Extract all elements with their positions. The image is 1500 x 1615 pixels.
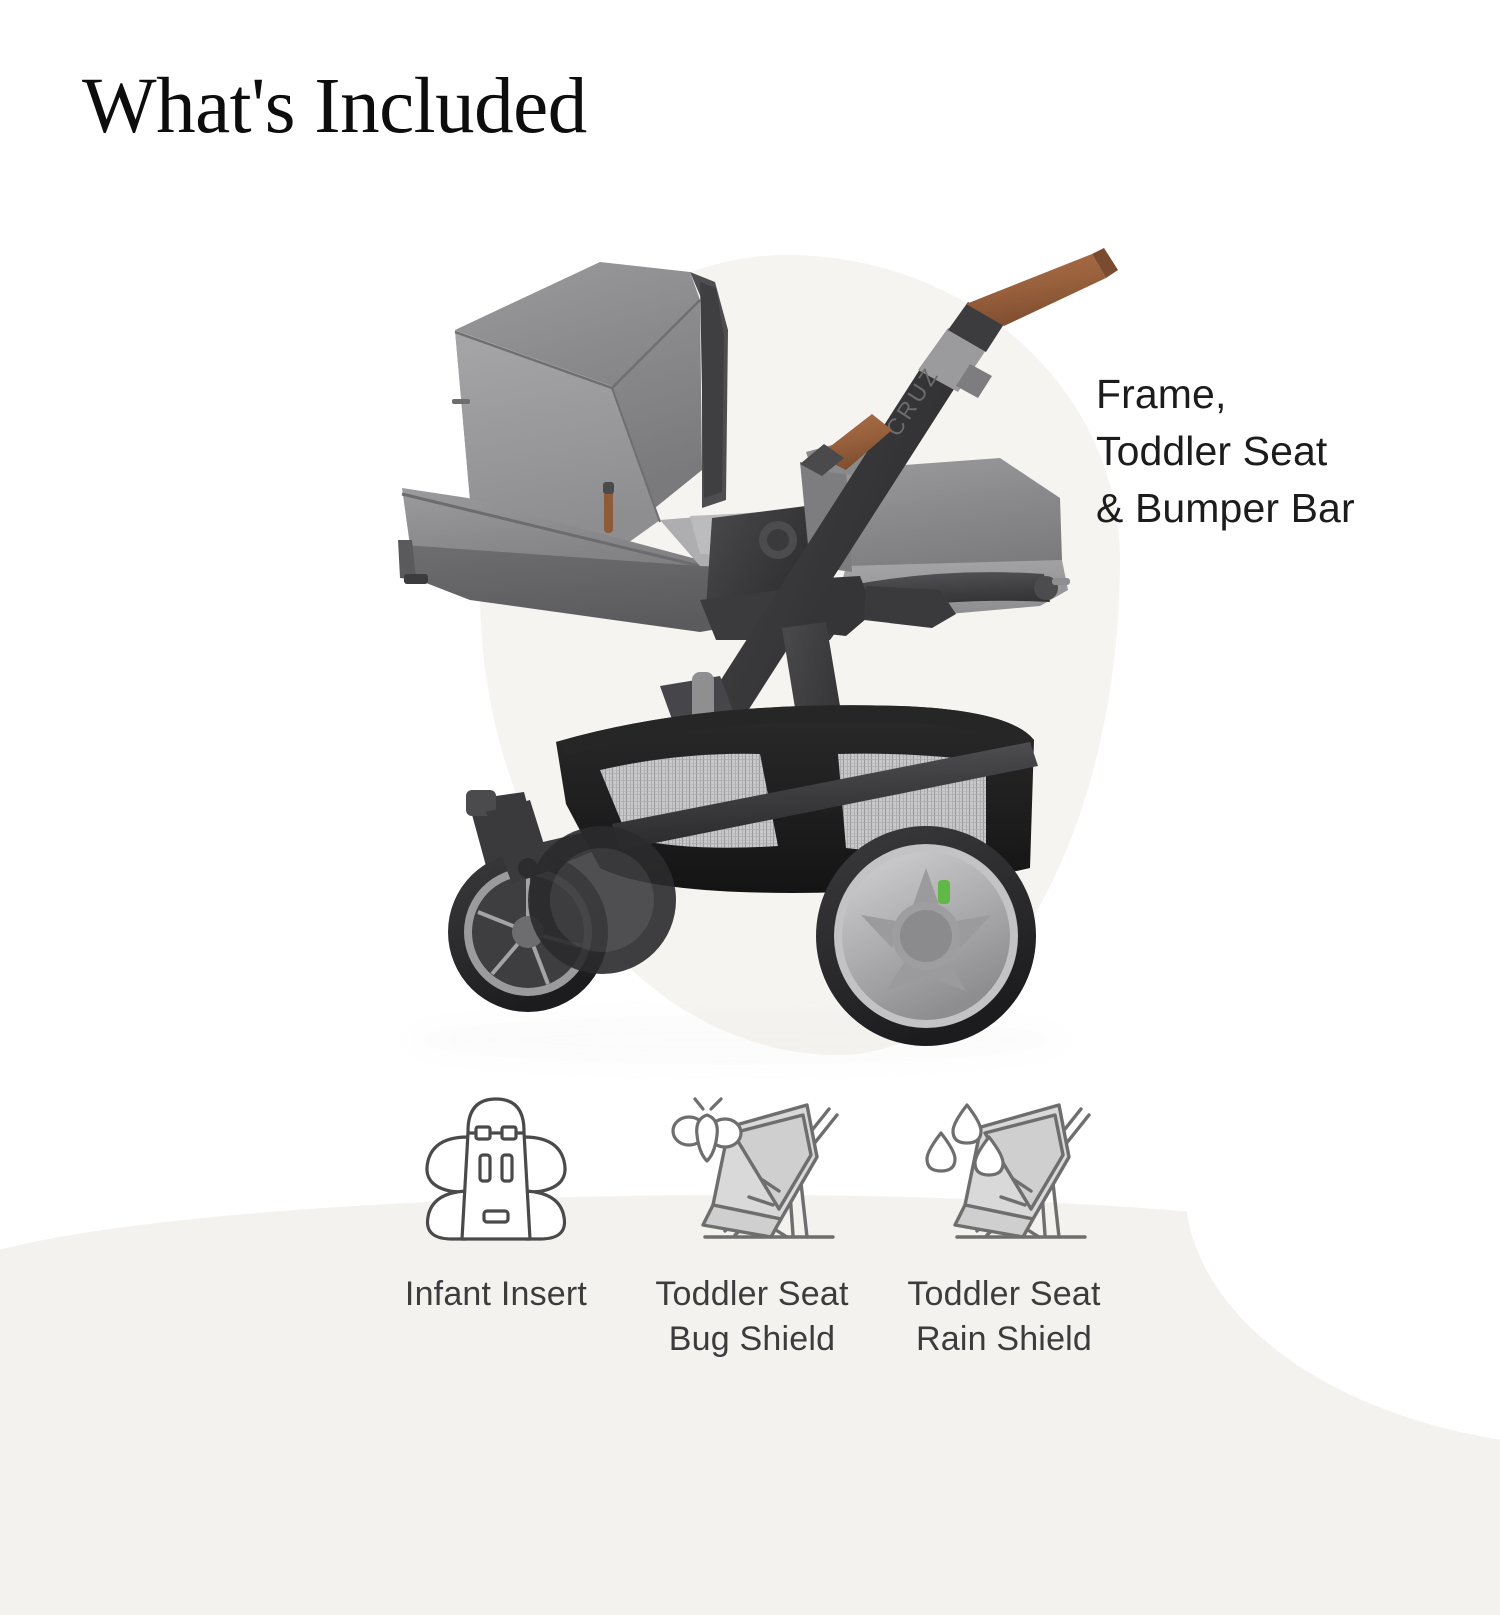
rain-shield-icon-wrap (913, 1085, 1095, 1250)
label-line-1: Toddler Seat (655, 1272, 848, 1317)
callout-line-1: Frame, (1096, 366, 1355, 423)
hub-pivot-inner (767, 529, 789, 551)
infographic-stage: What's Included Frame, Toddler Seat & Bu… (0, 0, 1500, 1500)
bug-shield-icon-wrap (661, 1085, 843, 1250)
canopy-logo-tab (452, 399, 470, 404)
callout-line-2: Toddler Seat (1096, 423, 1355, 480)
rear-hub-inner (900, 910, 952, 962)
callout-frame-toddler-seat: Frame, Toddler Seat & Bumper Bar (1096, 366, 1355, 537)
infant-insert-icon (410, 1087, 582, 1249)
label-line-2: Bug Shield (655, 1317, 848, 1362)
accessory-label-bug-shield: Toddler Seat Bug Shield (655, 1272, 848, 1362)
label-line-2: Rain Shield (907, 1317, 1100, 1362)
bumper-bar-release (1052, 578, 1070, 585)
canopy-zipper-pull (604, 489, 613, 533)
handlebar-leather-grip (966, 254, 1106, 326)
rear-wheel (816, 826, 1036, 1046)
canopy-zipper-slider (603, 482, 614, 494)
brake-indicator (938, 880, 950, 904)
label-line-1: Toddler Seat (907, 1272, 1100, 1317)
accessory-item-bug-shield[interactable]: Toddler Seat Bug Shield (621, 1085, 883, 1362)
callout-line-3: & Bumper Bar (1096, 480, 1355, 537)
toddler-seat-rain-shield-icon (913, 1087, 1095, 1249)
bassinet-foot-tab (404, 574, 428, 584)
accessory-item-rain-shield[interactable]: Toddler Seat Rain Shield (873, 1085, 1135, 1362)
toddler-seat-bug-shield-icon (661, 1087, 843, 1249)
front-wheel-far (528, 826, 676, 974)
accessory-label-rain-shield: Toddler Seat Rain Shield (907, 1272, 1100, 1362)
raindrop-icons (927, 1105, 1003, 1175)
page-title: What's Included (82, 62, 587, 152)
accessory-label-infant-insert: Infant Insert (405, 1272, 587, 1317)
front-rim-far (550, 848, 654, 952)
label-line-1: Infant Insert (405, 1272, 587, 1317)
infant-insert-icon-wrap (410, 1085, 582, 1250)
accessory-item-infant-insert[interactable]: Infant Insert (365, 1085, 627, 1317)
accessory-icon-row: Infant Insert (0, 1085, 1500, 1362)
